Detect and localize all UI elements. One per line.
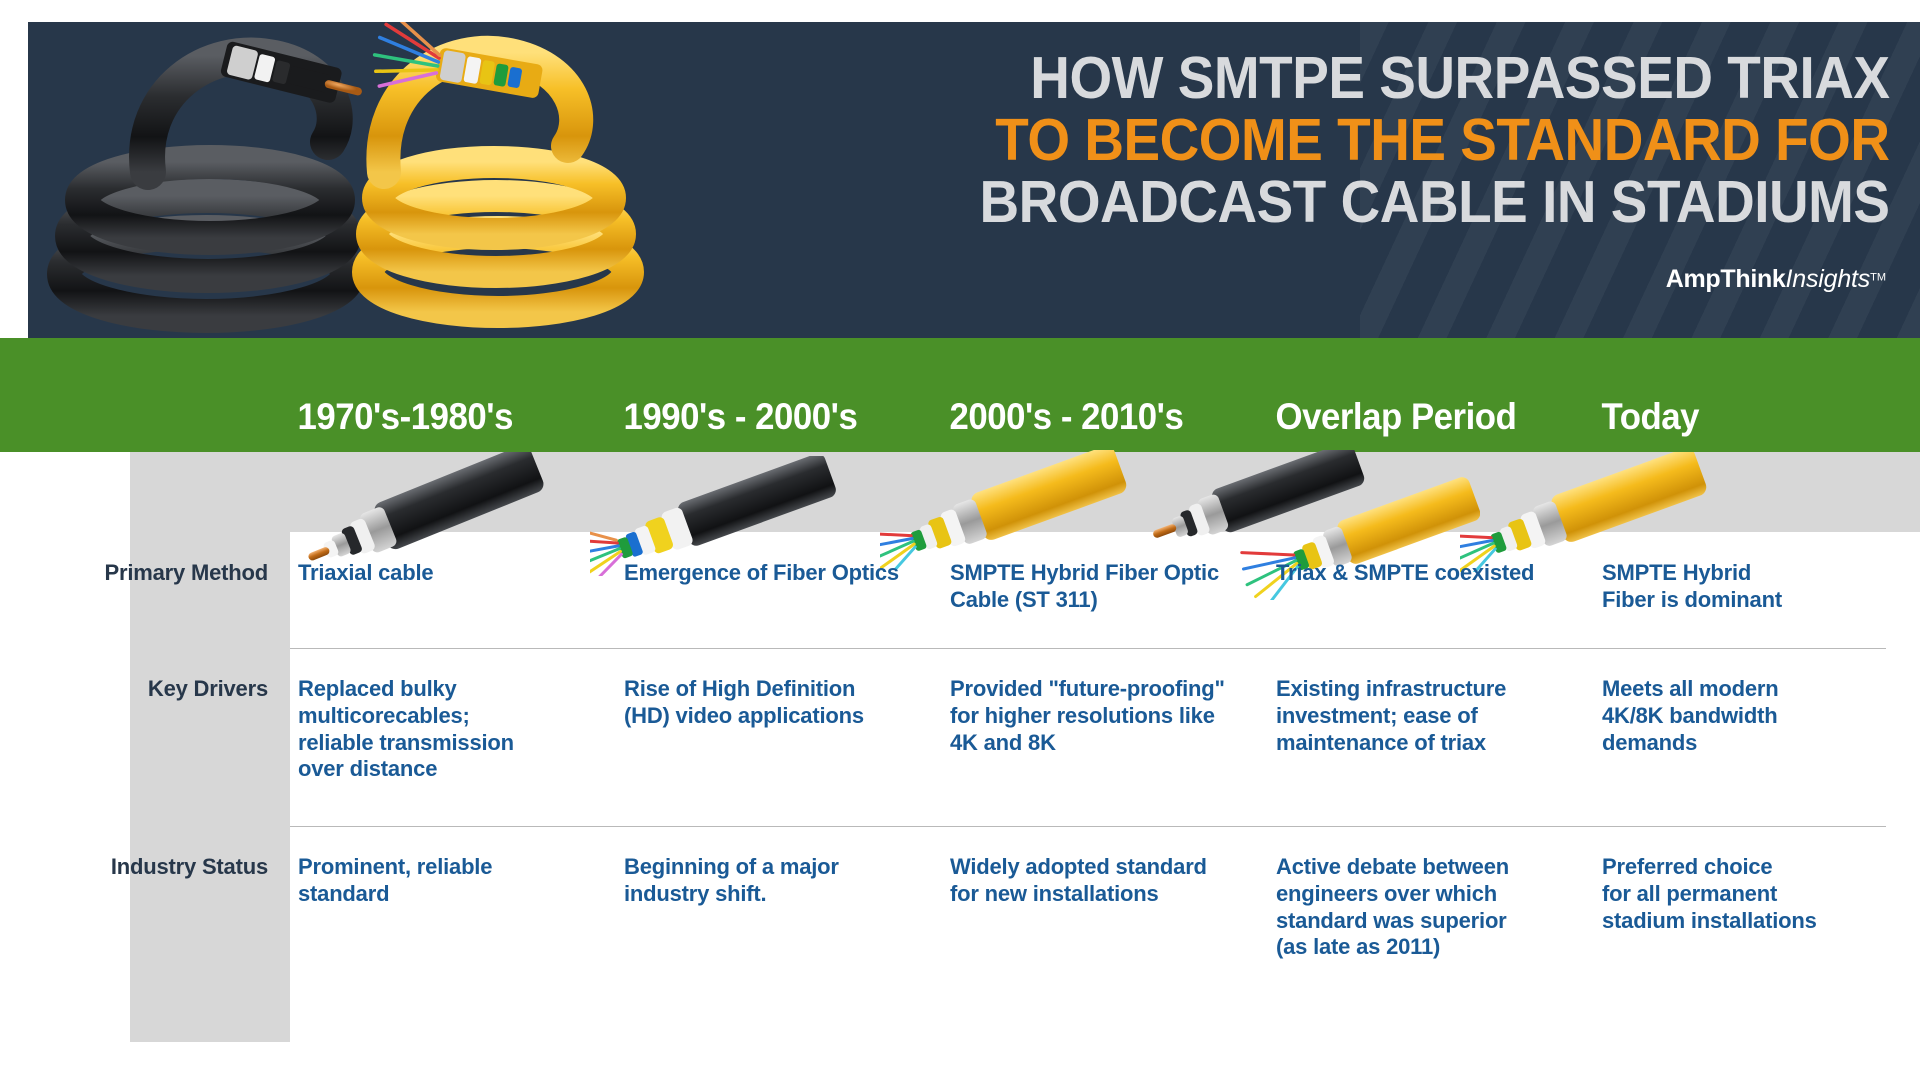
cell-key-drivers-1990s: Rise of High Definition (HD) video appli… (616, 648, 942, 826)
cell-industry-status-overlap: Active debate between engineers over whi… (1268, 826, 1594, 1006)
infographic-page: HOW SMTPE SURPASSED TRIAX TO BECOME THE … (0, 0, 1920, 1080)
cell-key-drivers-1970s: Replaced bulky multicorecables; reliable… (290, 648, 616, 826)
header-title: HOW SMTPE SURPASSED TRIAX TO BECOME THE … (911, 50, 1890, 235)
table-row-industry-status: Industry Status Prominent, reliable stan… (0, 826, 1920, 1006)
cell-primary-method-today: SMPTE Hybrid Fiber is dominant (1594, 532, 1920, 648)
row-label-key-drivers: Key Drivers (0, 648, 290, 826)
table-row-key-drivers: Key Drivers Replaced bulky multicorecabl… (0, 648, 1920, 826)
black-coil (64, 41, 366, 316)
cell-primary-method-overlap: Triax & SMPTE coexisted (1268, 532, 1594, 648)
logo-brand-text: AmpThink (1666, 265, 1786, 293)
cell-primary-method-1970s: Triaxial cable (290, 532, 616, 648)
table-top-gray-band (130, 452, 1920, 532)
header-banner: HOW SMTPE SURPASSED TRIAX TO BECOME THE … (28, 22, 1920, 338)
title-line-1: HOW SMTPE SURPASSED TRIAX (980, 50, 1890, 108)
cell-industry-status-1970s: Prominent, reliable standard (290, 826, 616, 1006)
header-cable-artwork (28, 22, 748, 338)
cell-industry-status-today: Preferred choice for all permanent stadi… (1594, 826, 1920, 1006)
era-header-1990s-2000s: 1990's - 2000's (616, 396, 922, 438)
era-header-2000s-2010s: 2000's - 2010's (942, 396, 1248, 438)
row-label-industry-status: Industry Status (0, 826, 290, 1006)
ampthink-insights-logo: AmpThinkInsightsTM (1666, 265, 1886, 294)
timeline-era-headers: 1970's-1980's 1990's - 2000's 2000's - 2… (0, 338, 1920, 452)
comparison-table: Primary Method Triaxial cable Emergence … (0, 532, 1920, 1006)
title-line-2: TO BECOME THE STANDARD FOR (980, 112, 1890, 170)
title-line-3: BROADCAST CABLE IN STADIUMS (980, 174, 1890, 232)
cell-primary-method-1990s: Emergence of Fiber Optics (616, 532, 942, 648)
cell-key-drivers-today: Meets all modern 4K/8K bandwidth demands (1594, 648, 1920, 826)
logo-product-text: Insights (1786, 265, 1871, 293)
era-header-1970s-1980s: 1970's-1980's (290, 396, 596, 438)
table-row-primary-method: Primary Method Triaxial cable Emergence … (0, 532, 1920, 648)
cell-key-drivers-overlap: Existing infrastructure investment; ease… (1268, 648, 1594, 826)
cell-industry-status-2000s: Widely adopted standard for new installa… (942, 826, 1268, 1006)
yellow-coil (368, 22, 628, 312)
era-header-today: Today (1594, 396, 1900, 438)
row-label-primary-method: Primary Method (0, 532, 290, 648)
logo-trademark-symbol: TM (1870, 272, 1886, 284)
era-header-overlap-period: Overlap Period (1268, 396, 1574, 438)
cell-industry-status-1990s: Beginning of a major industry shift. (616, 826, 942, 1006)
cell-key-drivers-2000s: Provided "future-proofing" for higher re… (942, 648, 1268, 826)
cell-primary-method-2000s: SMPTE Hybrid Fiber Optic Cable (ST 311) (942, 532, 1268, 648)
